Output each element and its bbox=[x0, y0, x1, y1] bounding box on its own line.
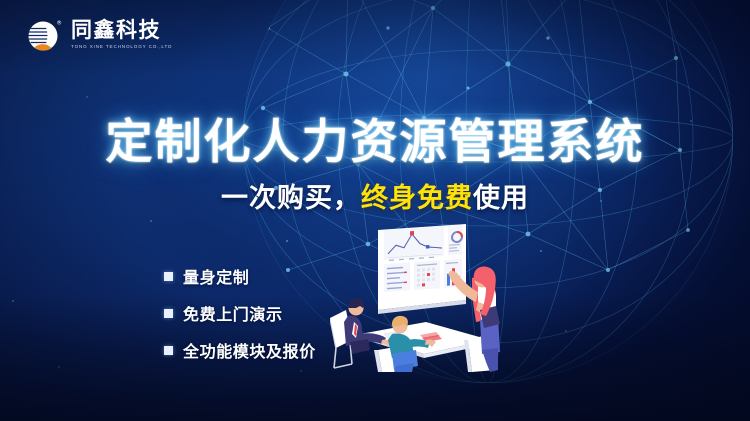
subtitle-highlight: 终身免费 bbox=[361, 183, 473, 214]
list-item: 量身定制 bbox=[164, 264, 316, 288]
feature-label: 全功能模块及报价 bbox=[183, 338, 316, 362]
square-bullet-icon bbox=[164, 346, 173, 355]
page-title: 定制化人力资源管理系统 bbox=[0, 103, 750, 172]
brand-logo: ® 同鑫科技 TONG XINE TECHNOLOGY CO.,LTD bbox=[26, 17, 172, 53]
brand-name-en: TONG XINE TECHNOLOGY CO.,LTD bbox=[71, 45, 172, 50]
standing-woman-presenter bbox=[449, 267, 500, 373]
list-item: 免费上门演示 bbox=[164, 301, 316, 325]
square-bullet-icon bbox=[164, 309, 173, 318]
subtitle-prefix: 一次购买， bbox=[221, 183, 361, 214]
subtitle: 一次购买，终身免费使用 bbox=[0, 176, 750, 215]
list-item: 全功能模块及报价 bbox=[164, 338, 316, 362]
feature-list: 量身定制 免费上门演示 全功能模块及报价 bbox=[164, 264, 316, 362]
promo-banner: ® 同鑫科技 TONG XINE TECHNOLOGY CO.,LTD 定制化人… bbox=[0, 0, 750, 421]
subtitle-suffix: 使用 bbox=[473, 183, 529, 214]
feature-label: 量身定制 bbox=[183, 264, 249, 288]
svg-text:®: ® bbox=[57, 20, 62, 27]
tongxin-logo-icon: ® bbox=[26, 17, 62, 53]
brand-name-cn: 同鑫科技 bbox=[71, 20, 172, 41]
business-meeting-dashboard-illustration bbox=[300, 222, 540, 372]
feature-label: 免费上门演示 bbox=[183, 301, 283, 325]
square-bullet-icon bbox=[164, 272, 173, 281]
presentation-screen-icon bbox=[378, 224, 466, 314]
